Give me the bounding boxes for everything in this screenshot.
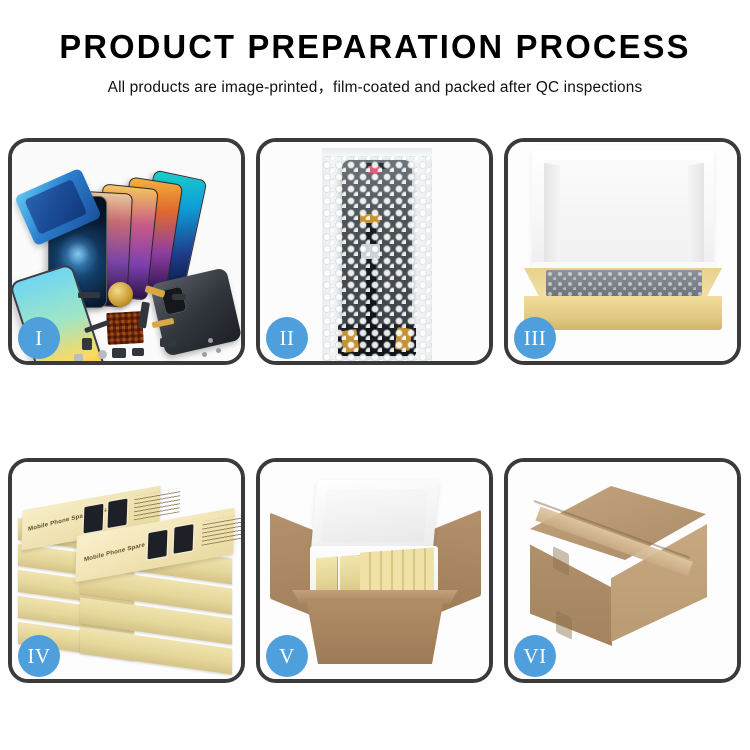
tray-rim: [524, 268, 722, 298]
spare-part: [82, 338, 92, 350]
process-step-panel-6[interactable]: VI: [504, 458, 741, 683]
chip-array-part: [106, 311, 144, 345]
step-badge-3: III: [514, 317, 556, 359]
bag-seal-edge: [322, 148, 432, 156]
bubble-texture-overlay: [322, 148, 432, 361]
spare-part: [172, 294, 186, 300]
carton-body: [300, 598, 450, 664]
spare-part: [112, 348, 126, 358]
step-badge-1: I: [18, 317, 60, 359]
page-subtitle: All products are image-printed，film-coat…: [0, 75, 750, 97]
box-artwork-screen: [148, 530, 168, 560]
screw-part: [202, 352, 207, 357]
screw-part: [208, 338, 213, 343]
page-header: PRODUCT PREPARATION PROCESS All products…: [0, 0, 750, 97]
step-badge-5: V: [266, 635, 308, 677]
box-spec-lines: [202, 513, 241, 545]
process-step-panel-2[interactable]: II: [256, 138, 493, 365]
step-badge-6: VI: [514, 635, 556, 677]
bubble-wrap-bag: [322, 148, 432, 361]
white-foam-lid: [532, 150, 714, 278]
spare-part: [132, 348, 144, 356]
step-badge-2: II: [266, 317, 308, 359]
tray-front-wall: [524, 296, 722, 330]
box-artwork-screen: [108, 499, 128, 529]
screw-part: [216, 348, 221, 353]
step-badge-4: IV: [18, 635, 60, 677]
foam-lid-flap-left: [544, 163, 560, 273]
spare-part: [74, 354, 83, 361]
spare-part: [98, 350, 107, 359]
spare-part: [138, 302, 150, 329]
process-step-panel-4[interactable]: Mobile Phone Spare Parts Mobile Phone Sp…: [8, 458, 245, 683]
process-step-panel-3[interactable]: III: [504, 138, 741, 365]
box-artwork-screen: [174, 524, 194, 554]
kraft-tray-box: [524, 268, 722, 330]
foam-box-lid: [311, 480, 439, 550]
process-step-panel-1[interactable]: I: [8, 138, 245, 365]
process-steps-grid: I II: [8, 138, 742, 683]
spare-part: [160, 338, 176, 347]
copper-coil-part: [108, 282, 133, 307]
spare-part: [78, 292, 100, 298]
box-spec-lines: [134, 488, 181, 520]
page-title: PRODUCT PREPARATION PROCESS: [4, 30, 747, 65]
box-artwork-screen: [84, 504, 104, 534]
process-step-panel-5[interactable]: V: [256, 458, 493, 683]
gray-foam-insert: [546, 270, 702, 296]
foam-lid-flap-right: [688, 163, 704, 273]
